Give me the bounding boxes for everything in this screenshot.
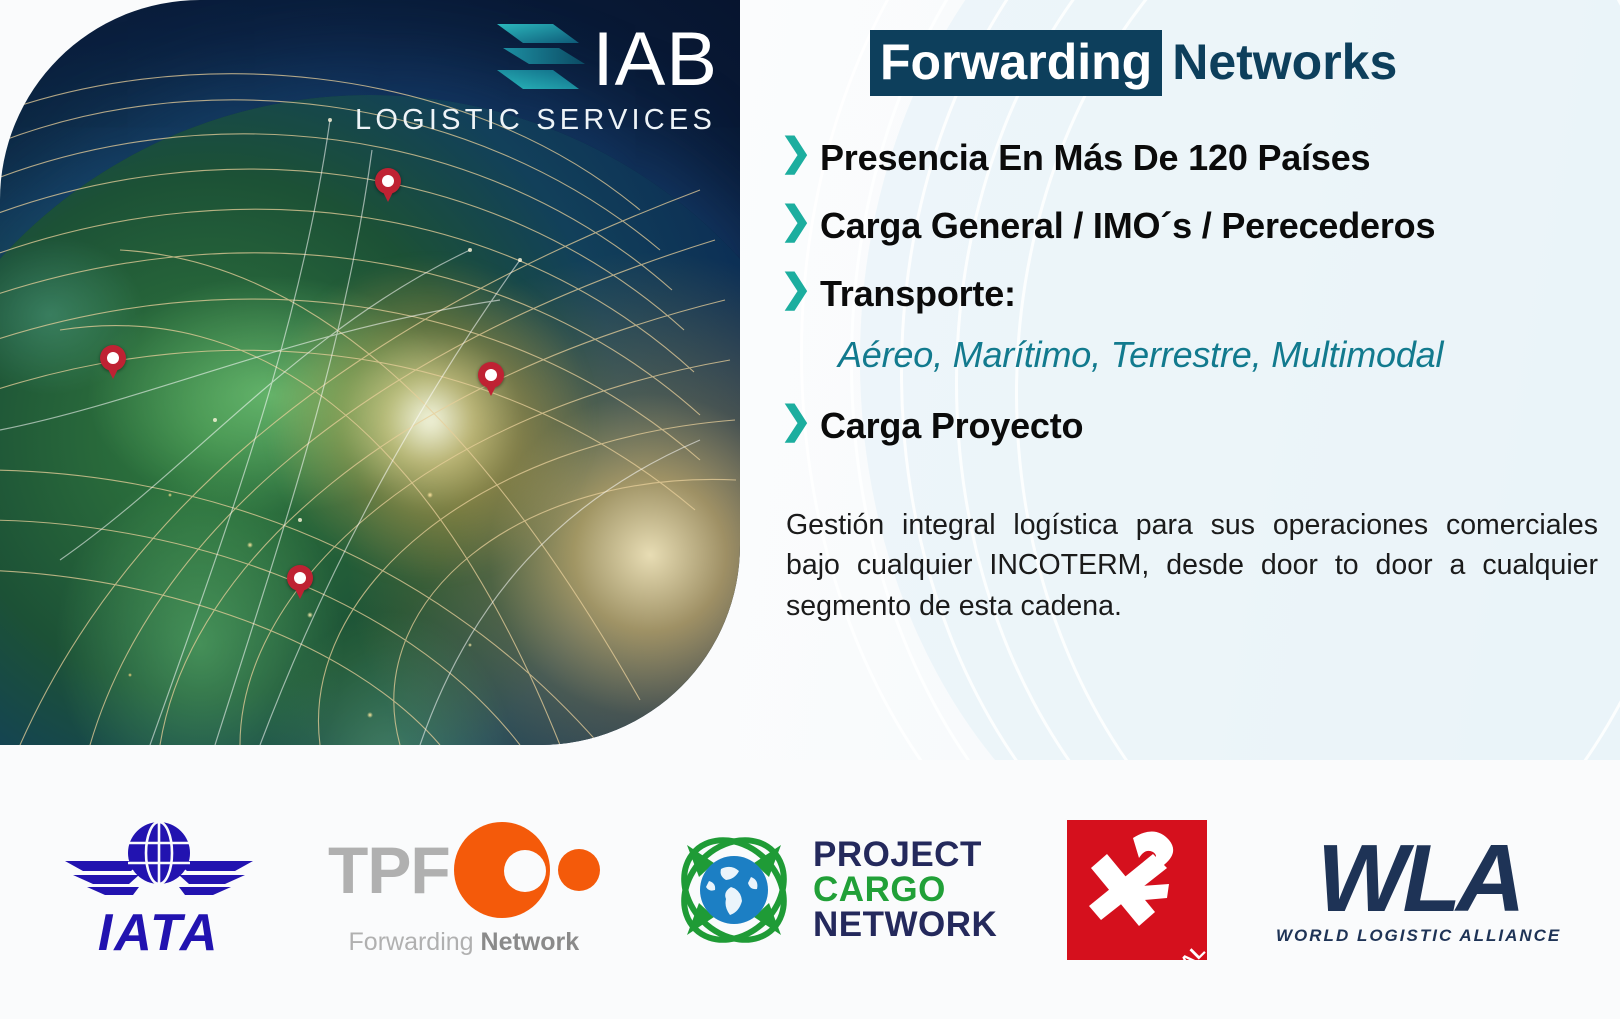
iata-logo: IATA [59, 817, 259, 963]
content-column: ForwardingNetworks ❯ Presencia En Más De… [762, 0, 1620, 745]
title-rest: Networks [1162, 34, 1397, 90]
chevron-right-icon: ❯ [780, 274, 806, 308]
tpf-tagline-bold: Network [481, 928, 580, 956]
map-pin-west [100, 345, 126, 379]
list-item-label: Transporte: [820, 274, 1016, 314]
pcn-line-2: CARGO [813, 872, 997, 907]
list-item-label: Carga Proyecto [820, 406, 1083, 446]
iab-tagline: LOGISTIC SERVICES [355, 104, 716, 137]
wla-wordmark: WLA [1317, 833, 1521, 924]
pcn-globe-orbit-icon [669, 825, 799, 955]
tpf-wordmark: TPF [328, 837, 450, 903]
tpf-small-circle-icon [558, 849, 600, 891]
tpf-tagline-light: Forwarding [349, 928, 481, 956]
list-item: ❯ Transporte: [780, 274, 1620, 314]
iab-wordmark: IAB [593, 24, 719, 96]
chevron-right-icon: ❯ [780, 406, 806, 440]
description-paragraph: Gestión integral logística para sus oper… [786, 505, 1598, 626]
page-title: ForwardingNetworks [870, 34, 1620, 92]
pcn-line-1: PROJECT [813, 837, 997, 872]
chevron-right-icon: ❯ [780, 206, 806, 240]
list-item: ❯ Carga Proyecto [780, 406, 1620, 446]
pcn-line-3: NETWORK [813, 907, 997, 942]
tpf-logo: TPF Forwarding Network [328, 822, 600, 957]
iab-chevron-mark-icon [493, 18, 589, 102]
map-pin-east [478, 362, 504, 396]
world-globe-network-image: IAB LOGISTIC SERVICES [0, 0, 740, 745]
tpf-large-circle-icon [454, 822, 550, 918]
slide-root: IAB LOGISTIC SERVICES ForwardingNetworks… [0, 0, 1620, 1019]
project-cargo-network-logo: PROJECT CARGO NETWORK [669, 825, 997, 955]
feature-bullet-list: ❯ Presencia En Más De 120 Países ❯ Carga… [780, 138, 1620, 447]
list-item: ❯ Carga General / IMO´s / Perecederos [780, 206, 1620, 246]
list-item-label: Presencia En Más De 120 Países [820, 138, 1370, 178]
x2-mark-icon [1067, 820, 1207, 960]
chevron-right-icon: ❯ [780, 138, 806, 172]
map-pin-south [287, 565, 313, 599]
wla-logo: WLA WORLD LOGISTIC ALLIANCE [1276, 833, 1561, 946]
list-item-label: Carga General / IMO´s / Perecederos [820, 206, 1435, 246]
wla-tagline: WORLD LOGISTIC ALLIANCE [1276, 926, 1561, 946]
iab-logo: IAB LOGISTIC SERVICES [355, 18, 718, 137]
iata-wordmark: IATA [98, 903, 220, 963]
list-item-subtext: Aéreo, Marítimo, Terrestre, Multimodal [838, 334, 1620, 376]
list-item: ❯ Presencia En Más De 120 Países [780, 138, 1620, 178]
x2-asia-global-logo: ASIA GLOBAL [1067, 820, 1207, 960]
partner-logo-band: IATA TPF Forwarding Network [0, 760, 1620, 1019]
title-highlight: Forwarding [870, 30, 1162, 96]
iata-globe-wings-icon [59, 817, 259, 909]
map-pin-north [375, 168, 401, 202]
tpf-tagline: Forwarding Network [349, 928, 580, 957]
